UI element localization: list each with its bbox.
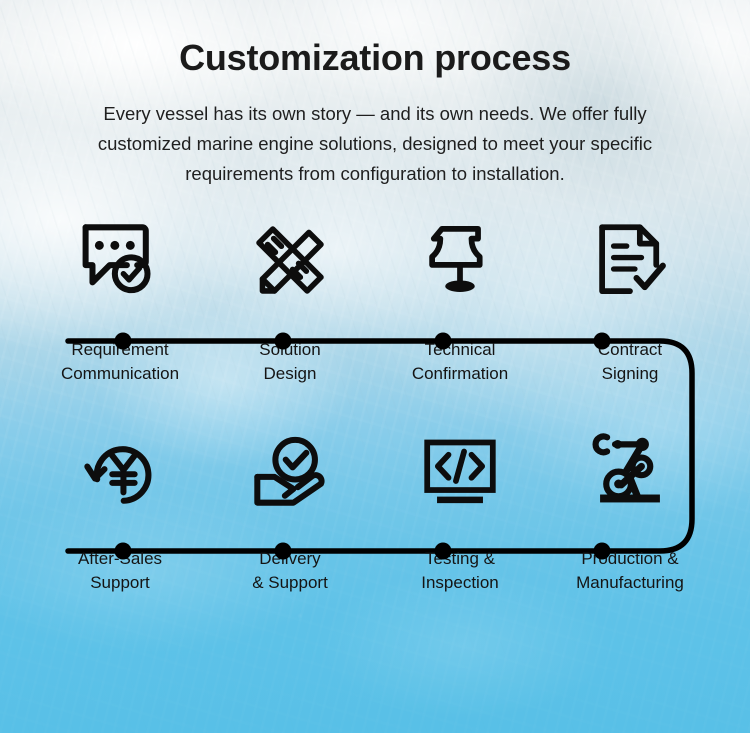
customization-process-infographic: Customization process Every vessel has i… — [0, 0, 750, 733]
header: Customization process Every vessel has i… — [0, 0, 750, 189]
process-flow: Requirement Communication — [0, 211, 750, 631]
timeline-node-1[interactable] — [115, 333, 132, 350]
timeline-node-2[interactable] — [275, 333, 292, 350]
timeline-node-8[interactable] — [115, 543, 132, 560]
intro-paragraph: Every vessel has its own story — and its… — [60, 99, 690, 189]
page-title: Customization process — [0, 0, 750, 78]
timeline-node-7[interactable] — [275, 543, 292, 560]
timeline-node-3[interactable] — [435, 333, 452, 350]
timeline-node-6[interactable] — [435, 543, 452, 560]
timeline-node-4[interactable] — [594, 333, 611, 350]
timeline-node-5[interactable] — [594, 543, 611, 560]
timeline-nodes — [0, 211, 750, 631]
